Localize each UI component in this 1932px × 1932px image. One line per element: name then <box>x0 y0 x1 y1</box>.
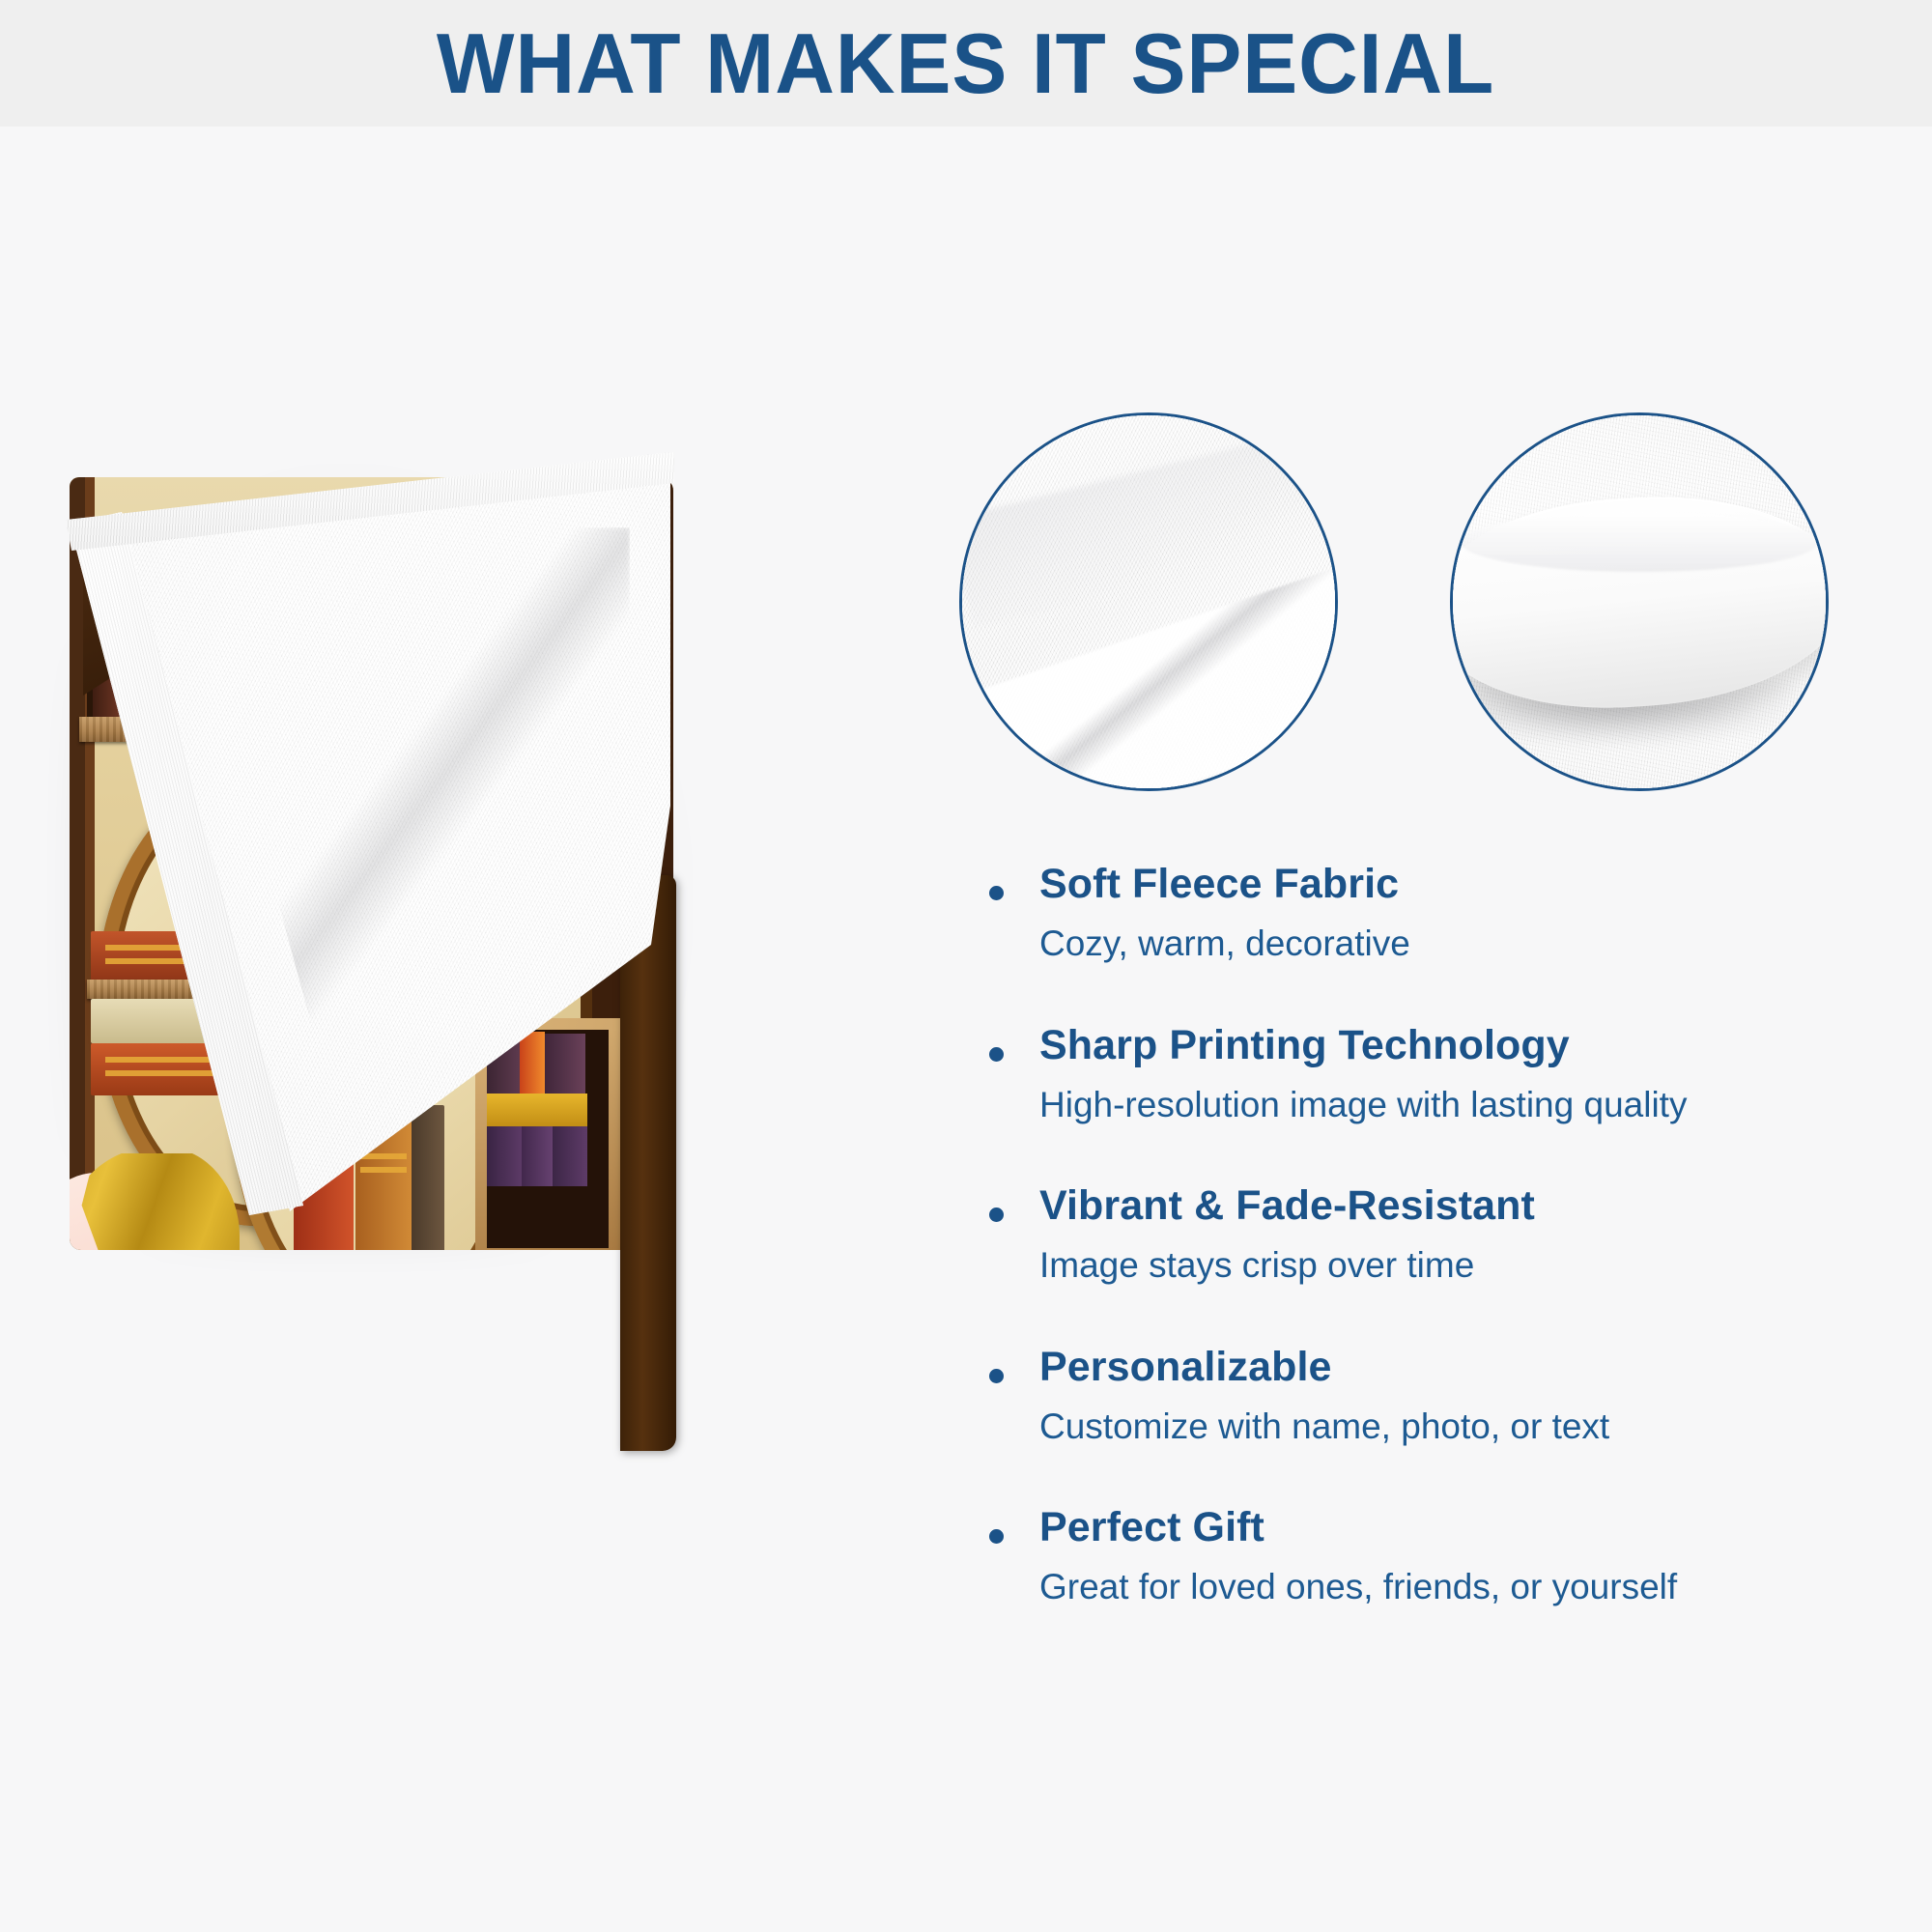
book-spine <box>91 931 274 981</box>
feature-item-personalizable: Personalizable Customize with name, phot… <box>976 1344 1903 1449</box>
bullet-icon <box>989 886 1004 900</box>
feature-description: Image stays crisp over time <box>1039 1244 1903 1287</box>
feature-item-sharp-printing-technology: Sharp Printing Technology High-resolutio… <box>976 1022 1903 1127</box>
feature-title: Personalizable <box>1039 1344 1903 1390</box>
feature-title: Vibrant & Fade-Resistant <box>1039 1182 1903 1229</box>
fleece-closeup-circle <box>959 412 1338 791</box>
feature-title: Sharp Printing Technology <box>1039 1022 1903 1068</box>
book-spine <box>294 1076 354 1250</box>
feature-description: Cozy, warm, decorative <box>1039 923 1903 965</box>
shelf-plank-top <box>79 717 287 742</box>
feature-item-soft-fleece-fabric: Soft Fleece Fabric Cozy, warm, decorativ… <box>976 861 1903 966</box>
bullet-icon <box>989 1207 1004 1222</box>
feature-item-perfect-gift: Perfect Gift Great for loved ones, frien… <box>976 1504 1903 1609</box>
feature-item-vibrant-fade-resistant: Vibrant & Fade-Resistant Image stays cri… <box>976 1182 1903 1288</box>
book-spine <box>412 1105 444 1250</box>
book-spine <box>249 784 301 968</box>
product-image <box>60 412 688 1262</box>
fleece-closeup-image <box>962 415 1335 788</box>
feature-list: Soft Fleece Fabric Cozy, warm, decorativ… <box>976 861 1903 1609</box>
feature-title: Soft Fleece Fabric <box>1039 861 1903 907</box>
page-header: WHAT MAKES IT SPECIAL <box>0 0 1932 127</box>
blanket-right-edge <box>620 875 676 1451</box>
feature-title: Perfect Gift <box>1039 1504 1903 1550</box>
bullet-icon <box>989 1369 1004 1383</box>
doll-hair <box>70 1153 240 1250</box>
feature-description: High-resolution image with lasting quali… <box>1039 1084 1903 1126</box>
content-stage: Soft Fleece Fabric Cozy, warm, decorativ… <box>0 127 1932 1932</box>
blanket-print-artwork <box>70 477 673 1250</box>
folded-edge-closeup-circle <box>1450 412 1829 791</box>
doll-character <box>70 1153 249 1250</box>
folded-edge-closeup-image <box>1453 415 1826 788</box>
bookshelf-right-row <box>475 1018 620 1250</box>
page-title: WHAT MAKES IT SPECIAL <box>437 14 1494 113</box>
book-spine <box>355 1095 412 1250</box>
book-spine <box>91 1043 270 1095</box>
folded-fabric-edge <box>1461 512 1819 572</box>
bullet-icon <box>989 1529 1004 1544</box>
bullet-icon <box>989 1047 1004 1062</box>
feature-description: Customize with name, photo, or text <box>1039 1406 1903 1448</box>
book-spine <box>91 999 265 1043</box>
shelf-plank-mid <box>87 980 309 999</box>
feature-description: Great for loved ones, friends, or yourse… <box>1039 1566 1903 1608</box>
